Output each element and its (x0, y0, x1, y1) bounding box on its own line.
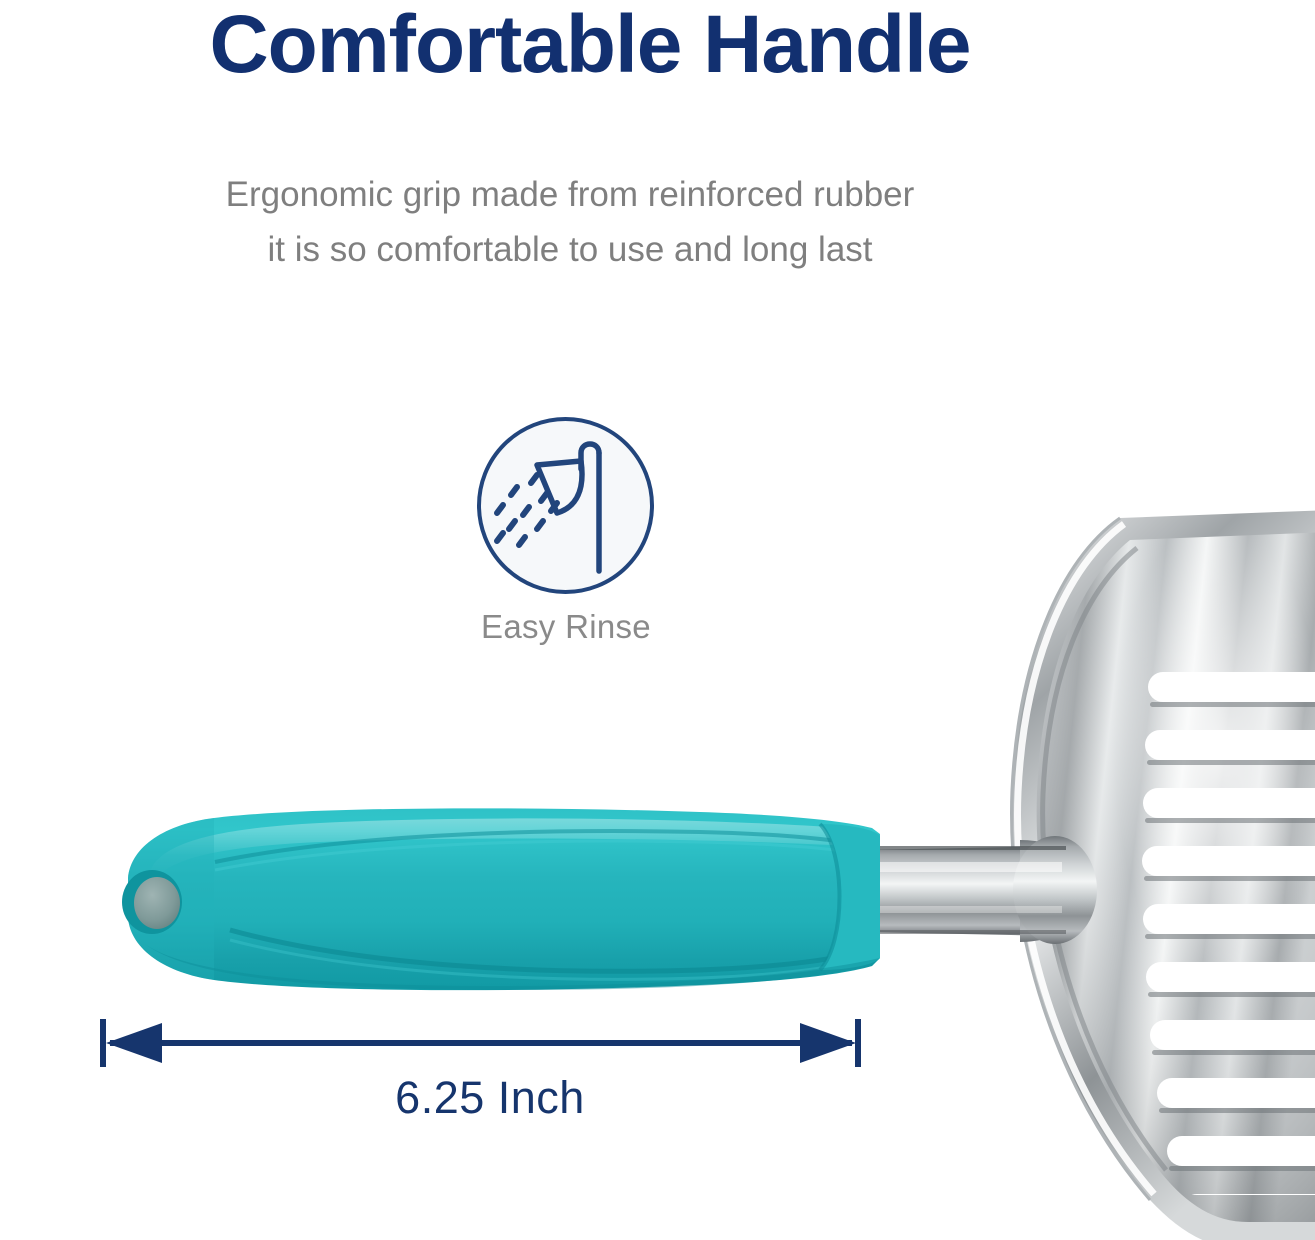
easy-rinse-badge (477, 417, 654, 594)
product-feature-page: Comfortable Handle Ergonomic grip made f… (0, 0, 1315, 1240)
subtitle-line-1: Ergonomic grip made from reinforced rubb… (0, 168, 1140, 223)
shower-rinse-icon (481, 421, 650, 590)
subtitle-line-2: it is so comfortable to use and long las… (0, 223, 1140, 278)
easy-rinse-label: Easy Rinse (411, 608, 721, 646)
scoop-blade (1012, 510, 1315, 1240)
rubber-handle (122, 808, 880, 990)
page-subtitle: Ergonomic grip made from reinforced rubb… (0, 168, 1140, 278)
steel-shaft (862, 836, 1097, 944)
dimension-label: 6.25 Inch (80, 1072, 900, 1124)
scoop-slots (1142, 672, 1315, 1224)
hanging-hole (122, 870, 182, 934)
page-title: Comfortable Handle (0, 2, 1180, 88)
